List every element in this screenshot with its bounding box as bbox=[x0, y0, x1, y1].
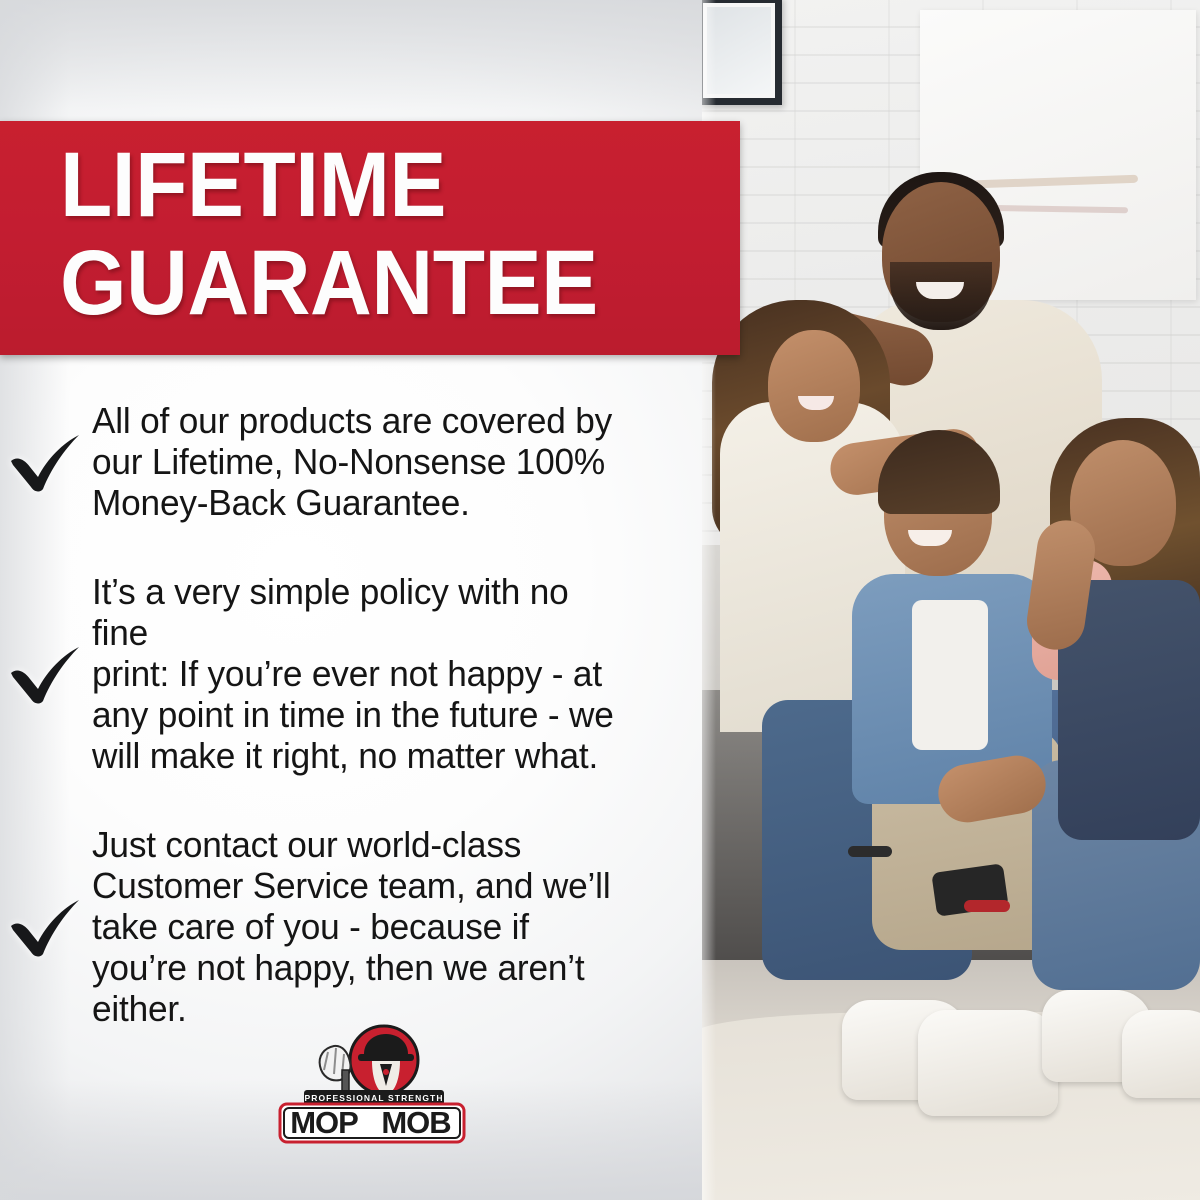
list-item: Just contact our world-class Customer Se… bbox=[0, 824, 706, 1029]
red-wristband bbox=[964, 900, 1010, 912]
logo-word-mob: MOB bbox=[381, 1105, 450, 1140]
mop-mob-logo: PROFESSIONAL STRENGTH MOP MOB bbox=[268, 1024, 476, 1148]
mother-face bbox=[768, 330, 860, 442]
boy-white-tee bbox=[912, 600, 988, 750]
family-photo bbox=[702, 0, 1200, 1200]
banner-text-group: LIFETIME GUARANTEE bbox=[60, 139, 740, 329]
sneaker bbox=[918, 1010, 1058, 1116]
list-item-text: Just contact our world-class Customer Se… bbox=[92, 824, 632, 1029]
list-item-text: All of our products are covered by our L… bbox=[92, 400, 632, 523]
list-item: It’s a very simple policy with no fine p… bbox=[0, 571, 706, 776]
guarantee-bullet-list: All of our products are covered by our L… bbox=[0, 400, 706, 1077]
logo-word-mop: MOP bbox=[290, 1105, 358, 1140]
headline-line-1: LIFETIME bbox=[60, 139, 692, 231]
sneaker bbox=[1122, 1010, 1200, 1098]
guarantee-graphic: LIFETIME GUARANTEE All of our products a… bbox=[0, 0, 1200, 1200]
list-item-text: It’s a very simple policy with no fine p… bbox=[92, 571, 632, 776]
headline-line-2: GUARANTEE bbox=[60, 237, 692, 329]
bracelet bbox=[848, 846, 892, 857]
picture-frame bbox=[702, 0, 782, 105]
checkmark-icon bbox=[0, 431, 92, 493]
list-item: All of our products are covered by our L… bbox=[0, 400, 706, 523]
logo-wordmark: MOP MOB bbox=[280, 1104, 464, 1142]
checkmark-icon bbox=[0, 643, 92, 705]
guarantee-banner: LIFETIME GUARANTEE bbox=[0, 121, 740, 355]
mop-icon bbox=[320, 1046, 351, 1096]
checkmark-icon bbox=[0, 896, 92, 958]
logo-tagline: PROFESSIONAL STRENGTH bbox=[304, 1093, 443, 1103]
